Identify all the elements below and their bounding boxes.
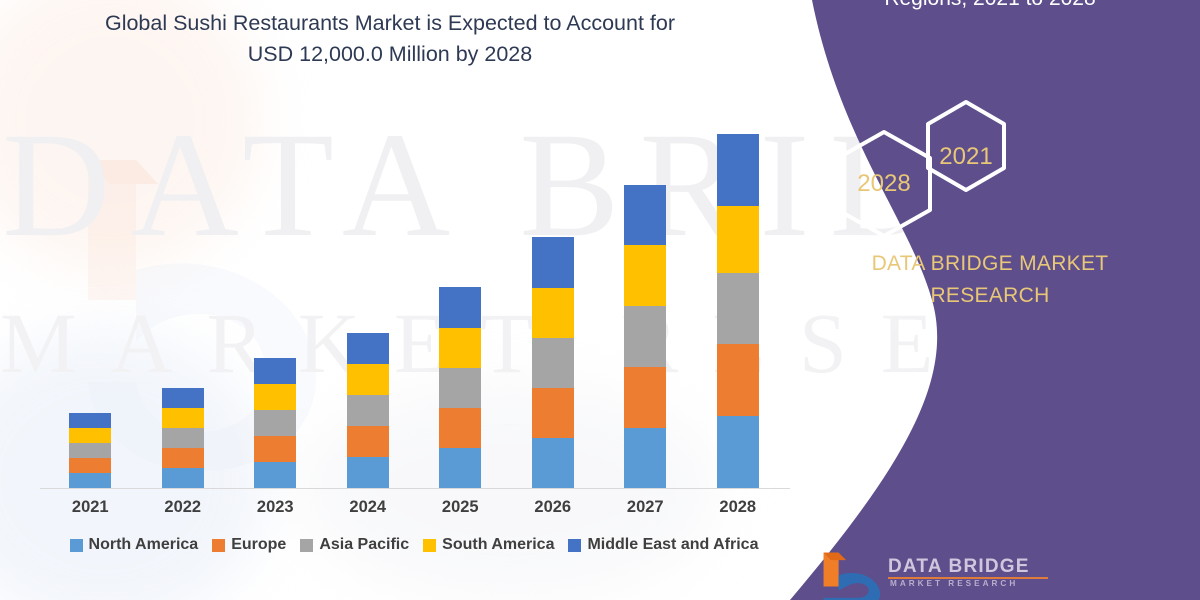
hexagon-2028-label: 2028 xyxy=(838,158,930,210)
svg-text:E: E xyxy=(820,393,873,489)
bar-segment-2024-europe[interactable] xyxy=(347,426,389,457)
brand-name: DATA BRIDGE MARKET RESEARCH xyxy=(780,248,1200,311)
legend-item-asia-pacific[interactable]: Asia Pacific xyxy=(300,536,409,554)
bar-segment-2026-europe[interactable] xyxy=(532,388,574,438)
bar-segment-2027-south-america[interactable] xyxy=(624,245,666,306)
bar-segment-2027-middle-east-and-africa[interactable] xyxy=(624,185,666,245)
bar-2028[interactable] xyxy=(717,134,759,488)
bar-2022[interactable] xyxy=(162,388,204,488)
legend-swatch-icon xyxy=(568,539,581,552)
legend-item-middle-east-and-africa[interactable]: Middle East and Africa xyxy=(568,536,758,554)
bar-segment-2023-south-america[interactable] xyxy=(254,384,296,410)
footer-logo: DATA BRIDGE MARKET RESEARCH xyxy=(816,544,1066,600)
x-tick-2028: 2028 xyxy=(703,498,773,517)
bar-segment-2025-middle-east-and-africa[interactable] xyxy=(439,287,481,328)
x-tick-2024: 2024 xyxy=(333,498,403,517)
x-tick-2027: 2027 xyxy=(610,498,680,517)
footer-logo-name: DATA BRIDGE xyxy=(888,556,1030,578)
legend-swatch-icon xyxy=(300,539,313,552)
chart-legend: North AmericaEuropeAsia PacificSouth Ame… xyxy=(44,536,784,554)
infographic-canvas: DATA BRIDGE MARKET RESEARCH Global Sushi… xyxy=(0,0,1200,600)
bar-segment-2023-europe[interactable] xyxy=(254,436,296,462)
bar-segment-2026-middle-east-and-africa[interactable] xyxy=(532,237,574,288)
bar-segment-2025-south-america[interactable] xyxy=(439,328,481,368)
legend-label: Asia Pacific xyxy=(319,536,409,554)
bar-segment-2024-south-america[interactable] xyxy=(347,364,389,395)
bar-segment-2021-asia-pacific[interactable] xyxy=(69,443,111,458)
brand-name-line-2: RESEARCH xyxy=(930,284,1049,307)
x-tick-2022: 2022 xyxy=(148,498,218,517)
bar-segment-2022-north-america[interactable] xyxy=(162,468,204,488)
bar-segment-2028-middle-east-and-africa[interactable] xyxy=(717,134,759,206)
legend-item-south-america[interactable]: South America xyxy=(423,536,554,554)
bar-segment-2026-south-america[interactable] xyxy=(532,288,574,338)
bar-segment-2028-north-america[interactable] xyxy=(717,416,759,488)
x-axis-line xyxy=(40,488,790,489)
bar-segment-2022-middle-east-and-africa[interactable] xyxy=(162,388,204,408)
legend-swatch-icon xyxy=(70,539,83,552)
bar-segment-2025-asia-pacific[interactable] xyxy=(439,368,481,408)
legend-swatch-icon xyxy=(423,539,436,552)
bar-segment-2024-asia-pacific[interactable] xyxy=(347,395,389,426)
footer-b-logo-icon xyxy=(816,548,882,600)
legend-swatch-icon xyxy=(212,539,225,552)
bar-segment-2023-asia-pacific[interactable] xyxy=(254,410,296,436)
x-tick-2023: 2023 xyxy=(240,498,310,517)
legend-item-europe[interactable]: Europe xyxy=(212,536,286,554)
bar-segment-2021-south-america[interactable] xyxy=(69,428,111,443)
hexagon-badges: 2021 2028 xyxy=(780,80,1200,240)
legend-label: South America xyxy=(442,536,554,554)
bar-segment-2027-north-america[interactable] xyxy=(624,428,666,488)
bar-segment-2025-europe[interactable] xyxy=(439,408,481,448)
legend-label: North America xyxy=(89,536,199,554)
footer-logo-tagline: MARKET RESEARCH xyxy=(890,579,1018,588)
bar-2021[interactable] xyxy=(69,413,111,488)
bar-segment-2028-europe[interactable] xyxy=(717,344,759,416)
legend-item-north-america[interactable]: North America xyxy=(70,536,199,554)
bar-segment-2025-north-america[interactable] xyxy=(439,448,481,488)
x-tick-2021: 2021 xyxy=(55,498,125,517)
bar-segment-2021-europe[interactable] xyxy=(69,458,111,473)
bar-segment-2024-north-america[interactable] xyxy=(347,457,389,488)
bar-segment-2021-north-america[interactable] xyxy=(69,473,111,488)
bar-segment-2022-south-america[interactable] xyxy=(162,408,204,428)
legend-label: Middle East and Africa xyxy=(587,536,758,554)
x-tick-2025: 2025 xyxy=(425,498,495,517)
brand-name-line-1: DATA BRIDGE MARKET xyxy=(872,252,1109,275)
bar-segment-2026-north-america[interactable] xyxy=(532,438,574,488)
bar-segment-2021-middle-east-and-africa[interactable] xyxy=(69,413,111,428)
panel-subtitle: Regions, 2021 to 2028 xyxy=(794,0,1186,14)
bar-2026[interactable] xyxy=(532,237,574,488)
bar-segment-2027-europe[interactable] xyxy=(624,367,666,428)
bar-segment-2027-asia-pacific[interactable] xyxy=(624,306,666,367)
bar-segment-2022-asia-pacific[interactable] xyxy=(162,428,204,448)
brand-panel: R E Regions, 2021 to 2028 2021 2028 DATA… xyxy=(780,0,1200,600)
bar-2023[interactable] xyxy=(254,358,296,488)
x-axis-tick-labels: 20212022202320242025202620272028 xyxy=(44,498,784,524)
hexagon-2021-label: 2021 xyxy=(928,124,1004,190)
bar-segment-2028-asia-pacific[interactable] xyxy=(717,273,759,344)
x-tick-2026: 2026 xyxy=(518,498,588,517)
stacked-bar-chart: 20212022202320242025202620272028 North A… xyxy=(0,0,800,600)
legend-label: Europe xyxy=(231,536,286,554)
chart-plot-area xyxy=(44,110,784,488)
bar-segment-2028-south-america[interactable] xyxy=(717,206,759,273)
bar-2027[interactable] xyxy=(624,185,666,488)
bar-segment-2023-middle-east-and-africa[interactable] xyxy=(254,358,296,384)
bar-segment-2026-asia-pacific[interactable] xyxy=(532,338,574,388)
bar-2025[interactable] xyxy=(439,287,481,488)
bar-2024[interactable] xyxy=(347,333,389,488)
bar-segment-2023-north-america[interactable] xyxy=(254,462,296,488)
bar-segment-2024-middle-east-and-africa[interactable] xyxy=(347,333,389,364)
bar-segment-2022-europe[interactable] xyxy=(162,448,204,468)
